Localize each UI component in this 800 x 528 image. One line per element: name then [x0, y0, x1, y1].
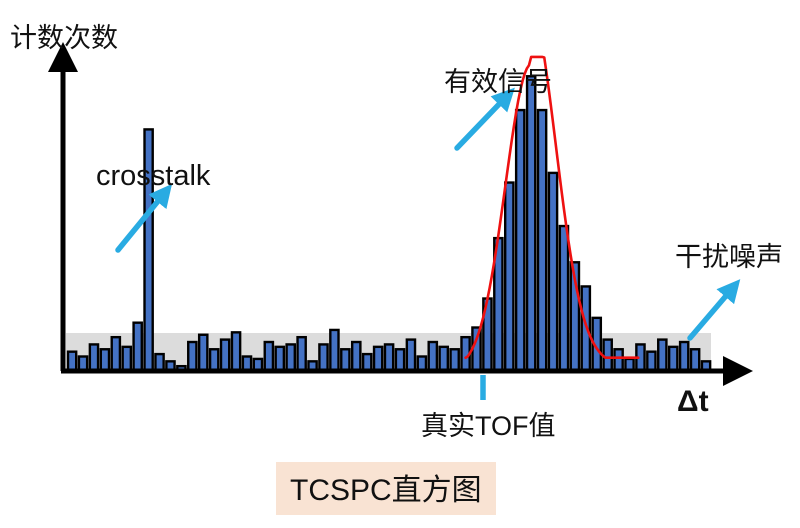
- histogram-bar: [527, 76, 535, 371]
- histogram-bar: [188, 342, 196, 371]
- histogram-bar: [505, 183, 513, 371]
- annotation-interference-noise: 干扰噪声: [675, 235, 783, 274]
- histogram-bar: [396, 349, 404, 371]
- annotation-valid-signal: 有效信号: [444, 60, 552, 99]
- histogram-bar: [647, 352, 655, 371]
- x-axis-label: Δt: [677, 385, 709, 419]
- histogram-bars: [68, 76, 710, 371]
- histogram-bar: [374, 347, 382, 371]
- histogram-bar: [680, 342, 688, 371]
- histogram-bar: [451, 349, 459, 371]
- histogram-bar: [199, 335, 207, 371]
- annotation-true-tof: 真实TOF值: [421, 404, 556, 443]
- histogram-bar: [549, 173, 557, 371]
- annotation-crosstalk: crosstalk: [96, 160, 210, 193]
- histogram-bar: [232, 332, 240, 371]
- tcspc-histogram-figure: 计数次数 crosstalk 有效信号 干扰噪声 真实TOF值 Δt TCSPC…: [0, 0, 800, 523]
- histogram-bar: [516, 110, 524, 371]
- y-axis-label: 计数次数: [10, 16, 118, 55]
- histogram-bar: [276, 347, 284, 371]
- histogram-bar: [560, 226, 568, 371]
- histogram-bar: [604, 340, 612, 371]
- histogram-bar: [330, 330, 338, 371]
- histogram-bar: [669, 347, 677, 371]
- histogram-bar: [90, 344, 98, 371]
- histogram-bar: [68, 352, 76, 371]
- histogram-bar: [287, 344, 295, 371]
- histogram-bar: [319, 344, 327, 371]
- histogram-bar: [221, 340, 229, 371]
- histogram-bar: [265, 342, 273, 371]
- crosstalk-arrow: [118, 195, 163, 250]
- histogram-bar: [352, 342, 360, 371]
- histogram-bar: [134, 323, 142, 371]
- figure-caption: TCSPC直方图: [276, 462, 496, 515]
- histogram-bar: [407, 340, 415, 371]
- histogram-bar: [691, 349, 699, 371]
- valid-signal-arrow: [457, 98, 505, 148]
- histogram-bar: [385, 344, 393, 371]
- histogram-bar: [210, 349, 218, 371]
- histogram-bar: [155, 354, 163, 371]
- histogram-bar: [341, 349, 349, 371]
- histogram-bar: [440, 347, 448, 371]
- histogram-bar: [582, 286, 590, 371]
- histogram-bar: [298, 337, 306, 371]
- histogram-bar: [112, 337, 120, 371]
- histogram-bar: [615, 349, 623, 371]
- histogram-bar: [658, 340, 666, 371]
- histogram-bar: [538, 110, 546, 371]
- histogram-bar: [429, 342, 437, 371]
- histogram-bar: [101, 349, 109, 371]
- histogram-bar: [123, 347, 131, 371]
- interference-noise-arrow: [690, 290, 731, 338]
- histogram-bar: [363, 354, 371, 371]
